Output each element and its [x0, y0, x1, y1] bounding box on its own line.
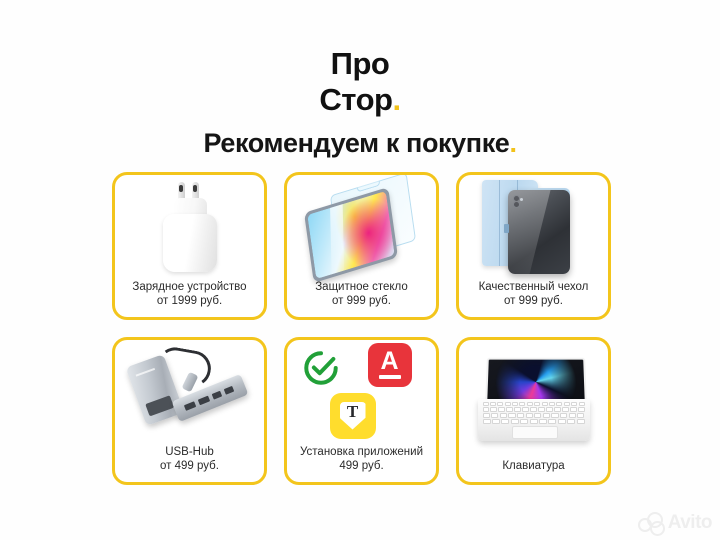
- page-title-dot: .: [509, 128, 516, 158]
- product-caption: Клавиатура: [459, 459, 608, 482]
- product-card-app-install[interactable]: A T Установка приложений 499 руб.: [284, 337, 439, 485]
- page-title: Рекомендуем к покупке.: [0, 128, 720, 159]
- product-title: Клавиатура: [502, 460, 564, 472]
- brand-logo-line1: Про: [0, 48, 720, 79]
- product-price: от 999 руб.: [459, 294, 608, 308]
- product-grid: Зарядное устройство от 1999 руб. Защитно…: [112, 172, 612, 485]
- product-image-charger: [115, 175, 264, 280]
- promo-banner: Про Стор. Рекомендуем к покупке. Зарядно…: [0, 0, 720, 540]
- product-price: от 999 руб.: [287, 294, 436, 308]
- product-image-usb-hub: [115, 340, 264, 445]
- product-caption: Зарядное устройство от 1999 руб.: [115, 280, 264, 317]
- tinkoff-letter: T: [347, 402, 358, 421]
- product-title: Защитное стекло: [315, 281, 408, 293]
- product-price: 499 руб.: [287, 459, 436, 473]
- tempered-glass-icon: [303, 182, 421, 274]
- brand-logo-dot: .: [392, 82, 400, 117]
- product-caption: Установка приложений 499 руб.: [287, 445, 436, 482]
- product-title: Качественный чехол: [479, 281, 589, 293]
- page-title-text: Рекомендуем к покупке: [203, 128, 509, 158]
- brand-logo-word: Стор: [319, 82, 392, 117]
- product-image-case: [459, 175, 608, 280]
- product-title: Зарядное устройство: [132, 281, 246, 293]
- brand-logo-line2: Стор.: [0, 84, 720, 115]
- product-card-keyboard[interactable]: Клавиатура: [456, 337, 611, 485]
- magic-keyboard-icon: [478, 357, 590, 443]
- power-adapter-icon: [159, 184, 221, 272]
- product-caption: Защитное стекло от 999 руб.: [287, 280, 436, 317]
- avito-watermark-text: Avito: [668, 512, 712, 534]
- product-caption: USB-Hub от 499 руб.: [115, 445, 264, 482]
- product-title: USB-Hub: [165, 446, 214, 458]
- product-card-usb-hub[interactable]: USB-Hub от 499 руб.: [112, 337, 267, 485]
- brand-logo: Про Стор.: [0, 48, 720, 115]
- avito-logo-icon: [638, 512, 664, 534]
- tinkoff-icon: T: [330, 393, 376, 439]
- alfabank-icon: A: [368, 343, 412, 387]
- avito-watermark: Avito: [638, 512, 712, 534]
- usb-hub-icon: [129, 345, 251, 441]
- product-price: от 1999 руб.: [115, 294, 264, 308]
- product-card-screen-protector[interactable]: Защитное стекло от 999 руб.: [284, 172, 439, 320]
- product-caption: Качественный чехол от 999 руб.: [459, 280, 608, 317]
- product-image-app-icons: A T: [287, 340, 436, 445]
- alfabank-letter: A: [380, 350, 398, 373]
- sber-icon: [302, 349, 340, 387]
- product-image-screen-protector: [287, 175, 436, 280]
- product-title: Установка приложений: [300, 446, 423, 458]
- product-price: от 499 руб.: [115, 459, 264, 473]
- tablet-case-icon: [482, 178, 586, 278]
- product-image-keyboard: [459, 340, 608, 459]
- product-card-charger[interactable]: Зарядное устройство от 1999 руб.: [112, 172, 267, 320]
- product-card-case[interactable]: Качественный чехол от 999 руб.: [456, 172, 611, 320]
